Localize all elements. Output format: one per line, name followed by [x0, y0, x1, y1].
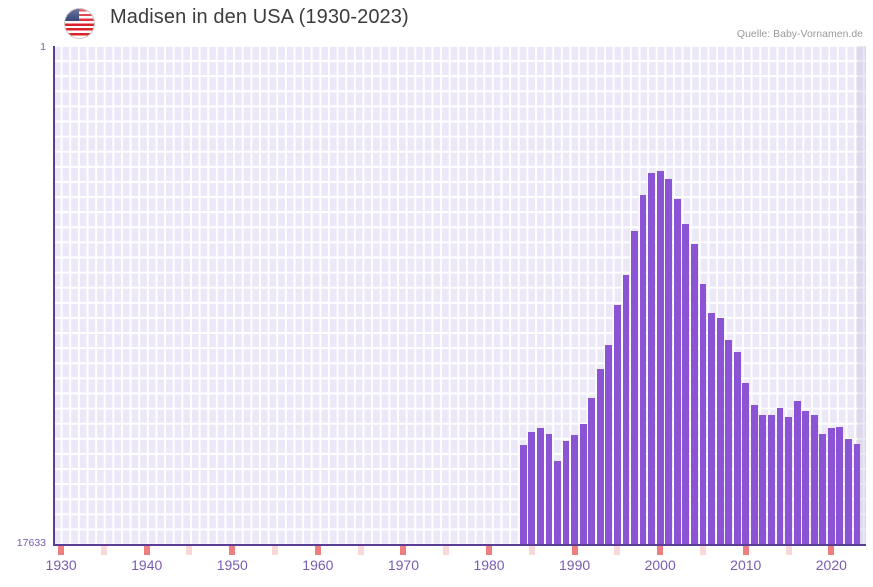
x-axis-tick-minor: [786, 546, 792, 555]
x-axis-tick-label: 2020: [801, 557, 861, 573]
y-axis-tick-bottom: 17633: [0, 537, 46, 549]
bar: [811, 415, 818, 545]
x-axis-tick-label: 1970: [373, 557, 433, 573]
bar: [674, 199, 681, 545]
bar: [657, 171, 664, 546]
x-axis-tick-major: [828, 546, 834, 555]
bar: [631, 231, 638, 545]
bar: [528, 432, 535, 545]
bar: [623, 275, 630, 545]
x-axis-tick-major: [657, 546, 663, 555]
bar: [580, 424, 587, 545]
x-axis-tick-minor: [529, 546, 535, 555]
bar: [520, 445, 527, 545]
bar: [614, 305, 621, 545]
bar: [640, 195, 647, 545]
bar: [588, 398, 595, 545]
bar: [845, 439, 852, 545]
bar: [665, 179, 672, 545]
bar: [751, 405, 758, 545]
x-axis-tick-label: 1960: [288, 557, 348, 573]
x-axis-tick-minor: [614, 546, 620, 555]
bar: [700, 284, 707, 545]
bar: [785, 417, 792, 545]
x-axis-tick-major: [743, 546, 749, 555]
bar: [648, 173, 655, 545]
bar: [537, 428, 544, 545]
page-title: Madisen in den USA (1930-2023): [110, 6, 409, 29]
x-axis-tick-label: 1930: [31, 557, 91, 573]
bar: [682, 224, 689, 545]
bar: [725, 340, 732, 545]
x-axis-tick-major: [229, 546, 235, 555]
x-axis-tick-major: [144, 546, 150, 555]
x-axis-tick-major: [315, 546, 321, 555]
bar: [597, 369, 604, 545]
bar: [759, 415, 766, 545]
x-axis-tick-label: 1990: [545, 557, 605, 573]
bar: [742, 383, 749, 545]
x-axis-tick-label: 1950: [202, 557, 262, 573]
bar: [768, 415, 775, 545]
x-axis-tick-label: 2010: [716, 557, 776, 573]
source-attribution: Quelle: Baby-Vornamen.de: [737, 28, 863, 40]
y-axis-line: [53, 46, 55, 546]
chart-plot-area: [53, 46, 866, 545]
bar: [828, 428, 835, 545]
bar: [554, 461, 561, 545]
bar: [802, 411, 809, 545]
x-axis-tick-minor: [186, 546, 192, 555]
bar: [563, 441, 570, 545]
bar: [546, 434, 553, 545]
chart-header: Madisen in den USA (1930-2023) Quelle: B…: [0, 0, 873, 46]
bar: [819, 434, 826, 545]
x-axis-tick-label: 1980: [459, 557, 519, 573]
bar: [836, 427, 843, 545]
bar: [605, 345, 612, 545]
x-axis-tick-minor: [101, 546, 107, 555]
x-axis-tick-minor: [443, 546, 449, 555]
x-axis-tick-minor: [272, 546, 278, 555]
y-axis-tick-top: 1: [0, 41, 46, 53]
x-axis-tick-major: [572, 546, 578, 555]
bar: [777, 408, 784, 545]
bar: [734, 352, 741, 545]
x-axis-tick-major: [58, 546, 64, 555]
y-axis-title: Platz: [0, 270, 3, 292]
bar: [691, 244, 698, 545]
x-axis-tick-label: 2000: [630, 557, 690, 573]
x-axis-tick-major: [400, 546, 406, 555]
bar: [571, 435, 578, 545]
x-axis-tick-major: [486, 546, 492, 555]
x-axis-tick-label: 1940: [117, 557, 177, 573]
bar: [717, 318, 724, 545]
x-axis-tick-minor: [700, 546, 706, 555]
bar: [708, 313, 715, 545]
bar: [794, 401, 801, 545]
bar: [854, 444, 861, 545]
us-flag-icon: [64, 8, 95, 39]
x-axis-tick-minor: [358, 546, 364, 555]
